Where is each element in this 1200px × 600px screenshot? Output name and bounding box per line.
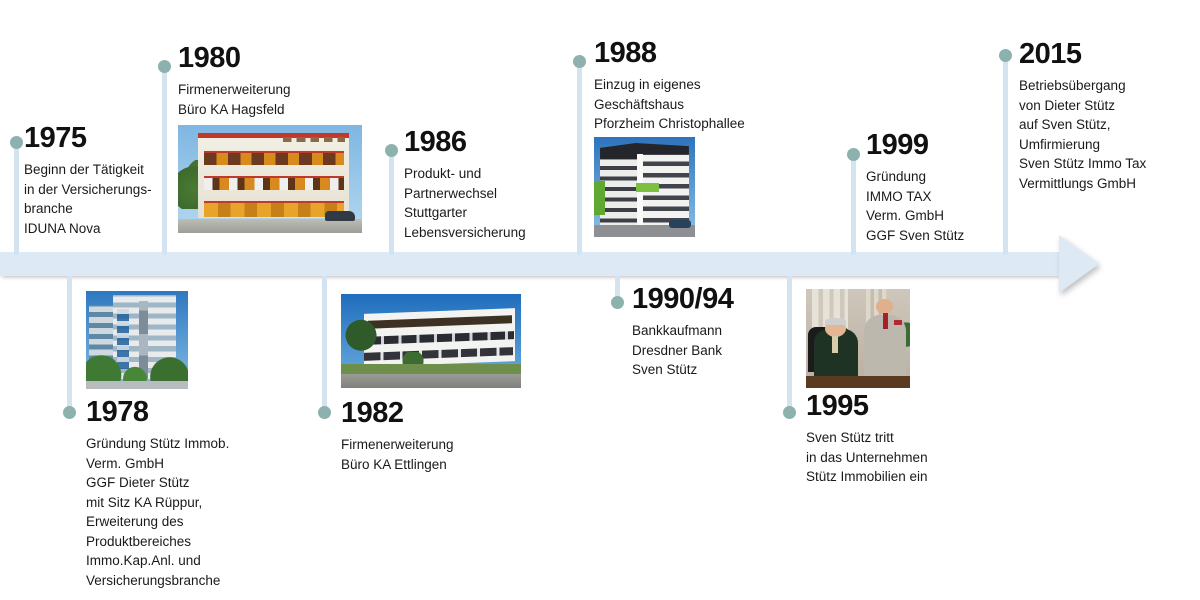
desc-line: Beginn der Tätigkeit (24, 160, 152, 180)
timeline-entry-1990-94[interactable]: 1990/94 Bankkaufmann Dresdner Bank Sven … (632, 285, 733, 380)
timeline-dot-1999 (847, 148, 860, 161)
connector-line-1975 (14, 140, 19, 255)
year-label-1986: 1986 (404, 128, 526, 157)
connector-line-1978 (67, 276, 72, 412)
description-1988: Einzug in eigenes Geschäftshaus Pforzhei… (594, 75, 745, 134)
year-label-1995: 1995 (806, 392, 928, 421)
desc-line: von Dieter Stütz (1019, 96, 1146, 116)
desc-line: Einzug in eigenes (594, 75, 745, 95)
desc-line: Produkt- und (404, 164, 526, 184)
desc-line: Büro KA Hagsfeld (178, 100, 291, 120)
timeline-dot-1988 (573, 55, 586, 68)
desc-line: Vermittlungs GmbH (1019, 174, 1146, 194)
desc-line: in der Versicherungs- (24, 180, 152, 200)
office-building-hagsfeld-photo (178, 125, 362, 233)
timeline-dot-1982 (318, 406, 331, 419)
description-1986: Produkt- und Partnerwechsel Stuttgarter … (404, 164, 526, 242)
timeline-entry-1975[interactable]: 1975 Beginn der Tätigkeit in der Versich… (24, 124, 152, 238)
timeline-entry-2015[interactable]: 2015 Betriebsübergang von Dieter Stütz a… (1019, 40, 1146, 193)
year-label-1988: 1988 (594, 39, 745, 68)
connector-line-1988 (577, 59, 582, 255)
desc-line: Stuttgarter (404, 203, 526, 223)
timeline-dot-1990-94 (611, 296, 624, 309)
desc-line: Verm. GmbH (866, 206, 964, 226)
timeline-entry-1988[interactable]: 1988 Einzug in eigenes Geschäftshaus Pfo… (594, 39, 745, 134)
desc-line: Betriebsübergang (1019, 76, 1146, 96)
desc-line: Versicherungsbranche (86, 571, 229, 591)
timeline-dot-2015 (999, 49, 1012, 62)
desc-line: Sven Stütz tritt (806, 428, 928, 448)
timeline-arrow-head-icon (1059, 235, 1099, 293)
year-label-1975: 1975 (24, 124, 152, 153)
description-1990-94: Bankkaufmann Dresdner Bank Sven Stütz (632, 321, 733, 380)
timeline-entry-1982[interactable]: 1982 Firmenerweiterung Büro KA Ettlingen (341, 399, 454, 474)
desc-line: Gründung (866, 167, 964, 187)
desc-line: IMMO TAX (866, 187, 964, 207)
timeline-dot-1995 (783, 406, 796, 419)
connector-line-1999 (851, 152, 856, 255)
description-1982: Firmenerweiterung Büro KA Ettlingen (341, 435, 454, 474)
timeline-dot-1975 (10, 136, 23, 149)
desc-line: Partnerwechsel (404, 184, 526, 204)
desc-line: IDUNA Nova (24, 219, 152, 239)
description-2015: Betriebsübergang von Dieter Stütz auf Sv… (1019, 76, 1146, 193)
company-history-timeline: 1975 Beginn der Tätigkeit in der Versich… (0, 0, 1200, 600)
desc-line: auf Sven Stütz, (1019, 115, 1146, 135)
desc-line: Stütz Immobilien ein (806, 467, 928, 487)
desc-line: mit Sitz KA Rüppur, (86, 493, 229, 513)
connector-line-1982 (322, 276, 327, 412)
description-1999: Gründung IMMO TAX Verm. GmbH GGF Sven St… (866, 167, 964, 245)
desc-line: branche (24, 199, 152, 219)
desc-line: Umfirmierung (1019, 135, 1146, 155)
description-1980: Firmenerweiterung Büro KA Hagsfeld (178, 80, 291, 119)
timeline-entry-1980[interactable]: 1980 Firmenerweiterung Büro KA Hagsfeld (178, 44, 291, 119)
desc-line: GGF Sven Stütz (866, 226, 964, 246)
year-label-1990-94: 1990/94 (632, 285, 733, 314)
connector-line-1986 (389, 148, 394, 255)
timeline-dot-1986 (385, 144, 398, 157)
connector-line-2015 (1003, 53, 1008, 255)
timeline-entry-1999[interactable]: 1999 Gründung IMMO TAX Verm. GmbH GGF Sv… (866, 131, 964, 245)
timeline-entry-1986[interactable]: 1986 Produkt- und Partnerwechsel Stuttga… (404, 128, 526, 242)
desc-line: GGF Dieter Stütz (86, 473, 229, 493)
timeline-dot-1978 (63, 406, 76, 419)
description-1995: Sven Stütz tritt in das Unternehmen Stüt… (806, 428, 928, 487)
timeline-entry-1978[interactable]: 1978 Gründung Stütz Immob. Verm. GmbH GG… (86, 398, 229, 591)
timeline-dot-1980 (158, 60, 171, 73)
desc-line: Sven Stütz Immo Tax (1019, 154, 1146, 174)
geschaeftshaus-pforzheim-photo (594, 137, 695, 237)
dieter-und-sven-stuetz-portrait-photo (806, 289, 910, 388)
desc-line: Immo.Kap.Anl. und (86, 551, 229, 571)
year-label-1980: 1980 (178, 44, 291, 73)
desc-line: Produktbereiches (86, 532, 229, 552)
desc-line: Bankkaufmann (632, 321, 733, 341)
desc-line: Büro KA Ettlingen (341, 455, 454, 475)
office-building-ettlingen-photo (341, 294, 521, 388)
description-1975: Beginn der Tätigkeit in der Versicherung… (24, 160, 152, 238)
connector-line-1995 (787, 276, 792, 412)
description-1978: Gründung Stütz Immob. Verm. GmbH GGF Die… (86, 434, 229, 591)
desc-line: Dresdner Bank (632, 341, 733, 361)
desc-line: Firmenerweiterung (178, 80, 291, 100)
year-label-1978: 1978 (86, 398, 229, 427)
connector-line-1980 (162, 64, 167, 255)
desc-line: Firmenerweiterung (341, 435, 454, 455)
desc-line: Erweiterung des (86, 512, 229, 532)
desc-line: Pforzheim Christophallee (594, 114, 745, 134)
year-label-1999: 1999 (866, 131, 964, 160)
timeline-axis-bar (0, 252, 1062, 276)
desc-line: Verm. GmbH (86, 454, 229, 474)
year-label-1982: 1982 (341, 399, 454, 428)
desc-line: Geschäftshaus (594, 95, 745, 115)
desc-line: Lebensversicherung (404, 223, 526, 243)
desc-line: Sven Stütz (632, 360, 733, 380)
desc-line: in das Unternehmen (806, 448, 928, 468)
office-tower-ruppur-photo (86, 291, 188, 389)
year-label-2015: 2015 (1019, 40, 1146, 69)
timeline-entry-1995[interactable]: 1995 Sven Stütz tritt in das Unternehmen… (806, 392, 928, 487)
desc-line: Gründung Stütz Immob. (86, 434, 229, 454)
